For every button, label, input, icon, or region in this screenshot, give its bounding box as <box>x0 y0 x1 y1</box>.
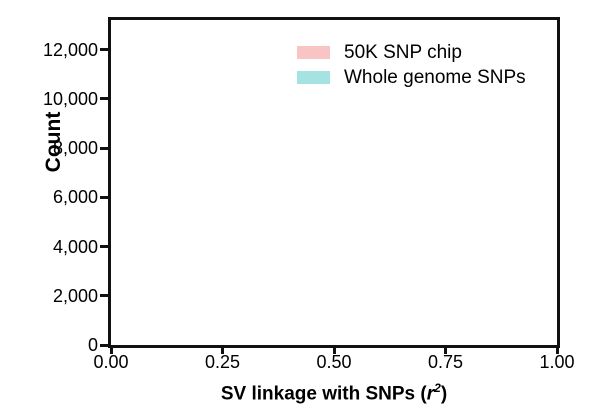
y-tick-label: 4,000 <box>4 238 98 256</box>
y-tick-label: 10,000 <box>4 90 98 108</box>
legend-swatch-cyan <box>297 71 330 84</box>
x-tick-label: 0.25 <box>178 352 268 373</box>
histogram-figure: Count 02,0004,0006,0008,00010,00012,000 … <box>0 0 600 413</box>
x-axis-label: SV linkage with SNPs (r2) <box>108 381 560 405</box>
legend: 50K SNP chip Whole genome SNPs <box>297 40 526 90</box>
x-axis-label-superscript: 2 <box>434 381 441 395</box>
x-axis-label-tail: ) <box>441 383 447 404</box>
x-tick-label: 0.75 <box>401 352 491 373</box>
legend-label-50k-snp-chip: 50K SNP chip <box>344 42 462 64</box>
x-axis-label-text: SV linkage with SNPs ( <box>221 383 427 404</box>
legend-swatch-pink <box>297 46 330 59</box>
y-tick-label: 2,000 <box>4 287 98 305</box>
y-tick-label: 12,000 <box>4 41 98 59</box>
legend-item-whole-genome-snps: Whole genome SNPs <box>297 65 526 90</box>
x-tick-label: 0.00 <box>66 352 156 373</box>
legend-item-50k-snp-chip: 50K SNP chip <box>297 40 526 65</box>
legend-label-whole-genome-snps: Whole genome SNPs <box>344 67 526 89</box>
y-tick-label: 8,000 <box>4 139 98 157</box>
x-tick-label: 0.50 <box>289 352 379 373</box>
x-tick-label: 1.00 <box>512 352 600 373</box>
y-tick-label: 6,000 <box>4 188 98 206</box>
